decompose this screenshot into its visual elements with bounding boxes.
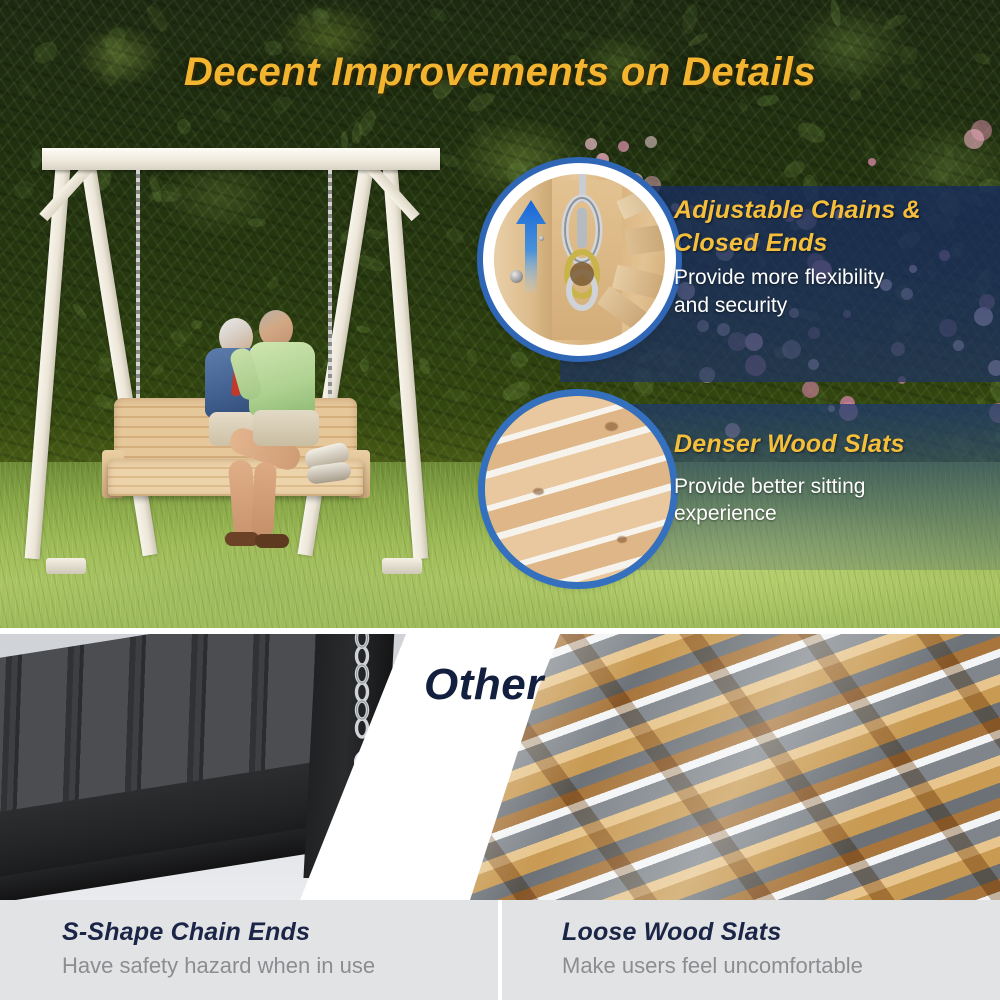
circle-inset-dense-slats — [485, 396, 671, 582]
wood-knot-2 — [533, 488, 544, 495]
callout-heading-line2: Closed Ends — [674, 227, 984, 260]
caption-title: S-Shape Chain Ends — [62, 918, 375, 947]
frame-post-right-front — [382, 159, 428, 559]
wood-knot-1 — [605, 422, 618, 431]
product-infographic: Decent Improvements on Details — [0, 0, 1000, 1000]
dense-wood-slats-closeup-icon — [485, 396, 671, 582]
photo-loose-wood-slats — [470, 634, 1000, 900]
wood-chip-2 — [624, 223, 665, 256]
callout-body-line2: and security — [674, 292, 984, 320]
caption-bar: S-Shape Chain Ends Have safety hazard wh… — [0, 900, 1000, 1000]
caption-divider — [498, 900, 502, 1000]
caption-subtitle: Have safety hazard when in use — [62, 953, 375, 979]
callout-text-adjustable-chains: Adjustable Chains & Closed Ends Provide … — [674, 194, 984, 320]
caption-s-shape-chain-ends: S-Shape Chain Ends Have safety hazard wh… — [62, 918, 375, 979]
frame-foot-left — [46, 558, 86, 574]
callout-body-line1: Provide better sitting — [674, 473, 984, 501]
wood-knot-3 — [617, 536, 627, 543]
woman-sandal-left — [225, 532, 259, 546]
chain-link-closeup-icon — [494, 174, 665, 345]
callout-heading: Denser Wood Slats — [674, 428, 984, 461]
woman-sandal-right — [255, 534, 289, 548]
slat-cross-beams — [470, 634, 1000, 900]
swing-chain-left — [136, 170, 140, 402]
caption-subtitle: Make users feel uncomfortable — [562, 953, 863, 979]
callout-text-denser-slats: Denser Wood Slats Provide better sitting… — [674, 428, 984, 528]
section-label-other: Other — [424, 660, 544, 710]
callout-body-line1: Provide more flexibility — [674, 264, 984, 292]
up-arrow-icon — [516, 200, 546, 292]
carabiner-icon — [552, 174, 612, 340]
frame-foot-right — [382, 558, 422, 574]
wood-chip-1 — [616, 180, 665, 219]
couple-on-swing — [175, 300, 345, 560]
woman-leg-lower-2 — [251, 461, 277, 538]
callout-body-line2: experience — [674, 500, 984, 528]
hero-section: Decent Improvements on Details — [0, 0, 1000, 628]
man-shorts — [253, 410, 319, 446]
caption-loose-wood-slats: Loose Wood Slats Make users feel uncomfo… — [562, 918, 863, 979]
circle-inset-chain-link — [483, 163, 676, 356]
caption-title: Loose Wood Slats — [562, 918, 863, 947]
callout-heading-line1: Adjustable Chains & — [674, 194, 984, 227]
frame-top-beam — [42, 148, 440, 170]
page-title: Decent Improvements on Details — [0, 50, 1000, 95]
